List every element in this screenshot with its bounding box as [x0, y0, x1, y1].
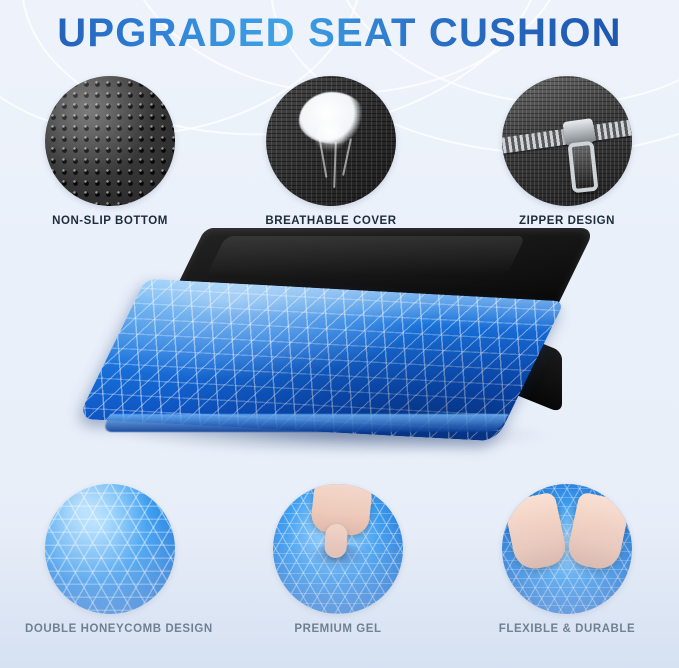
air-puff-icon	[299, 92, 365, 144]
flexible-durable-image	[502, 484, 632, 614]
feature-caption: BREATHABLE COVER	[246, 215, 416, 227]
feature-breathable-cover: BREATHABLE COVER	[246, 76, 416, 227]
highlight-sheen	[45, 76, 175, 206]
feature-caption: FLEXIBLE & DURABLE	[482, 623, 652, 635]
feature-caption: PREMIUM GEL	[253, 623, 423, 635]
page-title: UPGRADED SEAT CUSHION	[0, 10, 679, 56]
feature-zipper-design: ZIPPER DESIGN	[482, 76, 652, 227]
double-honeycomb-image	[45, 484, 175, 614]
feature-caption: ZIPPER DESIGN	[482, 215, 652, 227]
feature-double-honeycomb-design: DOUBLE HONEYCOMB DESIGN	[25, 484, 195, 635]
zipper-pull-tab	[567, 141, 598, 193]
feature-non-slip-bottom: NON-SLIP BOTTOM	[25, 76, 195, 227]
gel-gloss	[45, 484, 175, 614]
feature-caption: DOUBLE HONEYCOMB DESIGN	[25, 623, 195, 635]
premium-gel-image	[273, 484, 403, 614]
product-infographic: UPGRADED SEAT CUSHION NON-SLIP BOTTOM BR…	[0, 0, 679, 668]
gel-bottom-edge	[102, 414, 509, 432]
non-slip-bottom-image	[45, 76, 175, 206]
feature-flexible-durable: FLEXIBLE & DURABLE	[482, 484, 652, 635]
zipper-design-image	[502, 76, 632, 206]
product-image	[96, 228, 584, 463]
feature-caption: NON-SLIP BOTTOM	[25, 215, 195, 227]
finger-graphic	[324, 523, 348, 558]
fabric-highlight	[206, 236, 526, 276]
feature-premium-gel: PREMIUM GEL	[253, 484, 423, 635]
breathable-cover-image	[266, 76, 396, 206]
